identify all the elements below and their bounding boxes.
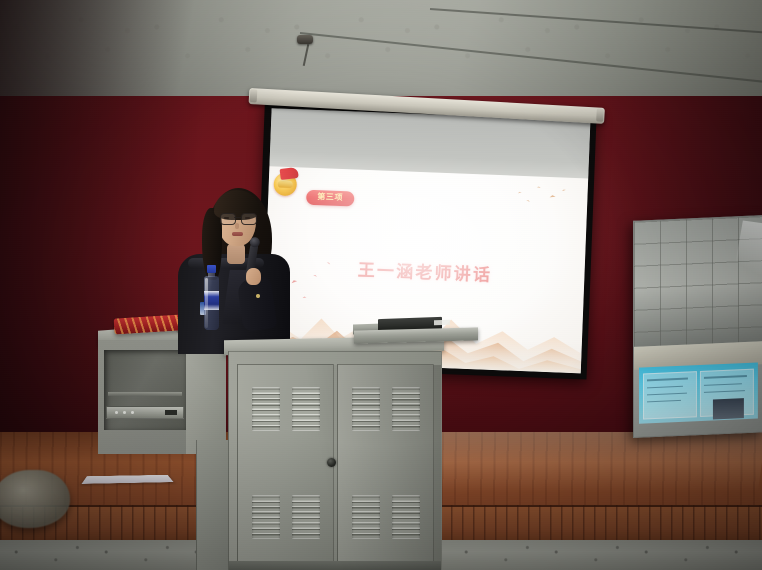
laptop-highlight	[434, 320, 450, 326]
ceiling-smoke-detector-icon	[297, 35, 313, 44]
screenshot-scene: 第三项 王一涵老师讲话	[0, 0, 762, 570]
emblem-flag-icon	[280, 167, 299, 180]
ventilation-louver-icon	[392, 495, 420, 539]
device-led-icon	[115, 411, 118, 414]
housing-end-cap-right	[596, 108, 604, 121]
eyeglass-bridge	[234, 217, 242, 218]
ventilation-louver-icon	[252, 495, 280, 539]
ventilation-louver-icon	[252, 387, 280, 431]
female-presenter	[178, 182, 290, 354]
mirror-reflected-information-board	[639, 363, 758, 424]
presenter-hand	[246, 268, 261, 285]
leaning-mirror-panel[interactable]	[633, 215, 762, 438]
ventilation-louver-icon	[292, 387, 320, 431]
ventilation-louver-icon	[292, 495, 320, 539]
lectern-shelf	[108, 392, 182, 396]
bottle-cap-icon	[207, 265, 216, 273]
laptop-base	[354, 327, 478, 343]
cabinet-base	[229, 561, 441, 570]
lectern-av-device[interactable]	[106, 406, 184, 419]
cabinet-lock-icon[interactable]	[327, 458, 336, 467]
device-led-icon	[131, 411, 134, 414]
board-photo	[713, 398, 744, 419]
presenter-neck	[227, 244, 245, 264]
ventilation-louver-icon	[392, 387, 420, 431]
cabinet-door-left[interactable]	[237, 364, 334, 564]
cabinet-door-right[interactable]	[337, 364, 434, 564]
slide-section-badge: 第三项	[306, 190, 354, 207]
presenter-nose	[235, 223, 239, 229]
laptop-on-cabinet[interactable]	[354, 318, 478, 342]
plastic-water-bottle[interactable]	[203, 265, 220, 330]
ventilation-louver-icon	[352, 387, 380, 431]
presenter-lapel-pin	[256, 294, 260, 298]
slide-title: 王一涵老师讲话	[265, 252, 585, 289]
cabinet-body	[228, 351, 442, 570]
lectern-side-panel	[186, 342, 226, 454]
gray-metal-equipment-cabinet[interactable]	[228, 338, 440, 570]
presenter-mouth	[232, 232, 243, 236]
housing-end-cap-left	[250, 89, 258, 102]
device-slot	[165, 410, 177, 415]
lectern-equipment-niche	[104, 350, 186, 430]
bottle-highlight	[205, 278, 208, 328]
device-led-icon	[123, 411, 126, 414]
ventilation-louver-icon	[352, 495, 380, 539]
